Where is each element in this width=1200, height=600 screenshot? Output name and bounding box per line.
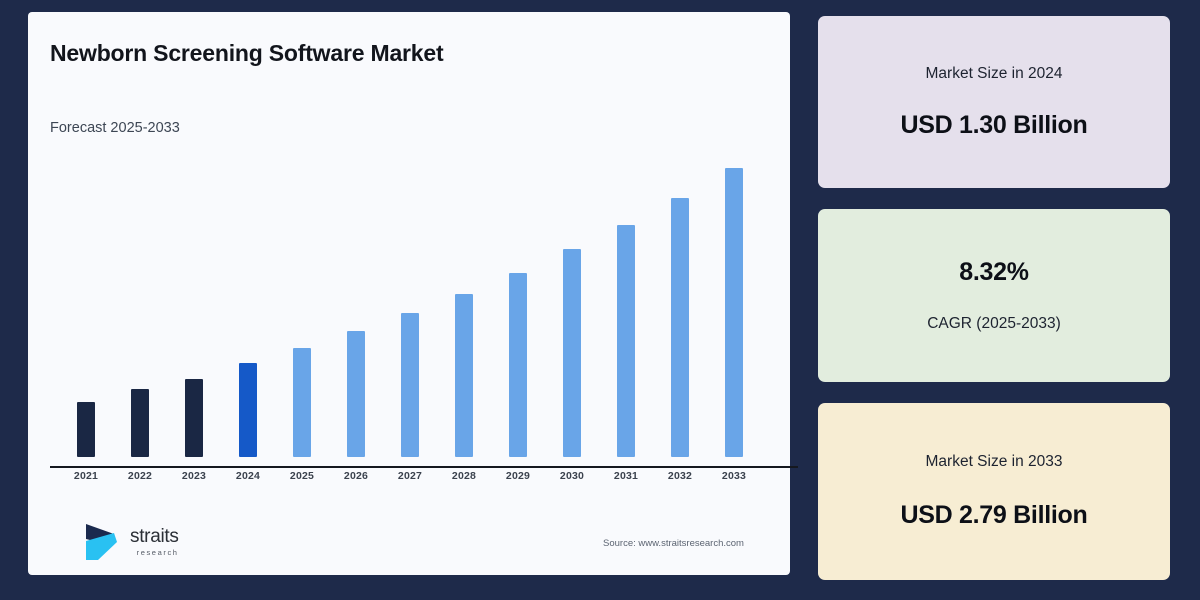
bar-2026[interactable] bbox=[347, 331, 365, 457]
bar-slot bbox=[437, 152, 491, 457]
bar-2024[interactable] bbox=[239, 363, 257, 457]
bar-2025[interactable] bbox=[293, 348, 311, 457]
source-attribution: Source: www.straitsresearch.com bbox=[603, 538, 744, 549]
bar-chart-plot bbox=[50, 152, 770, 457]
stat-card-label: Market Size in 2024 bbox=[926, 65, 1063, 83]
bar-2021[interactable] bbox=[77, 402, 95, 457]
bar-slot bbox=[383, 152, 437, 457]
bar-slot bbox=[653, 152, 707, 457]
stat-card-value: 8.32% bbox=[959, 258, 1028, 287]
bar-slot bbox=[329, 152, 383, 457]
bar-slot bbox=[599, 152, 653, 457]
bar-2023[interactable] bbox=[185, 379, 203, 457]
chart-panel: Newborn Screening Software Market Foreca… bbox=[28, 12, 790, 575]
bar-slot bbox=[707, 152, 761, 457]
x-axis-label-2026: 2026 bbox=[329, 470, 383, 482]
x-axis-label-2029: 2029 bbox=[491, 470, 545, 482]
bar-slot bbox=[113, 152, 167, 457]
bar-slot bbox=[59, 152, 113, 457]
x-axis-label-2032: 2032 bbox=[653, 470, 707, 482]
logo-text-block: straits research bbox=[130, 527, 179, 557]
logo-tagline: research bbox=[130, 549, 179, 557]
stat-card-value: USD 1.30 Billion bbox=[901, 111, 1088, 140]
stat-card-market-size-2024: Market Size in 2024 USD 1.30 Billion bbox=[818, 16, 1170, 188]
bar-slot bbox=[545, 152, 599, 457]
x-axis-label-2028: 2028 bbox=[437, 470, 491, 482]
bar-2027[interactable] bbox=[401, 313, 419, 457]
x-axis-label-2030: 2030 bbox=[545, 470, 599, 482]
bar-2031[interactable] bbox=[617, 225, 635, 457]
x-axis-label-2022: 2022 bbox=[113, 470, 167, 482]
x-axis-label-2021: 2021 bbox=[59, 470, 113, 482]
bar-2032[interactable] bbox=[671, 198, 689, 457]
bar-2030[interactable] bbox=[563, 249, 581, 457]
bar-slot bbox=[167, 152, 221, 457]
x-axis-label-2031: 2031 bbox=[599, 470, 653, 482]
stat-card-label: CAGR (2025-2033) bbox=[927, 315, 1061, 333]
x-axis-label-2023: 2023 bbox=[167, 470, 221, 482]
x-axis-label-2033: 2033 bbox=[707, 470, 761, 482]
infographic-root: Newborn Screening Software Market Foreca… bbox=[0, 0, 1200, 600]
x-axis-label-2024: 2024 bbox=[221, 470, 275, 482]
bar-2028[interactable] bbox=[455, 294, 473, 457]
stat-card-label: Market Size in 2033 bbox=[926, 453, 1063, 471]
brand-logo: straits research bbox=[84, 520, 179, 564]
x-axis-label-2025: 2025 bbox=[275, 470, 329, 482]
bar-2033[interactable] bbox=[725, 168, 743, 457]
bar-slot bbox=[491, 152, 545, 457]
bar-slot bbox=[275, 152, 329, 457]
bar-slot bbox=[221, 152, 275, 457]
stat-card-market-size-2033: Market Size in 2033 USD 2.79 Billion bbox=[818, 403, 1170, 580]
bar-series-group bbox=[50, 152, 770, 457]
x-axis-label-2027: 2027 bbox=[383, 470, 437, 482]
bar-2022[interactable] bbox=[131, 389, 149, 457]
logo-name: straits bbox=[130, 527, 179, 546]
stat-card-value: USD 2.79 Billion bbox=[901, 501, 1088, 530]
straits-research-logo-mark bbox=[84, 520, 124, 564]
x-axis-line bbox=[50, 466, 798, 468]
x-axis-tick-labels: 2021202220232024202520262027202820292030… bbox=[50, 470, 770, 492]
page-title: Newborn Screening Software Market bbox=[50, 40, 443, 67]
stat-card-cagr: 8.32% CAGR (2025-2033) bbox=[818, 209, 1170, 382]
bar-2029[interactable] bbox=[509, 273, 527, 457]
chart-subtitle: Forecast 2025-2033 bbox=[50, 120, 180, 136]
